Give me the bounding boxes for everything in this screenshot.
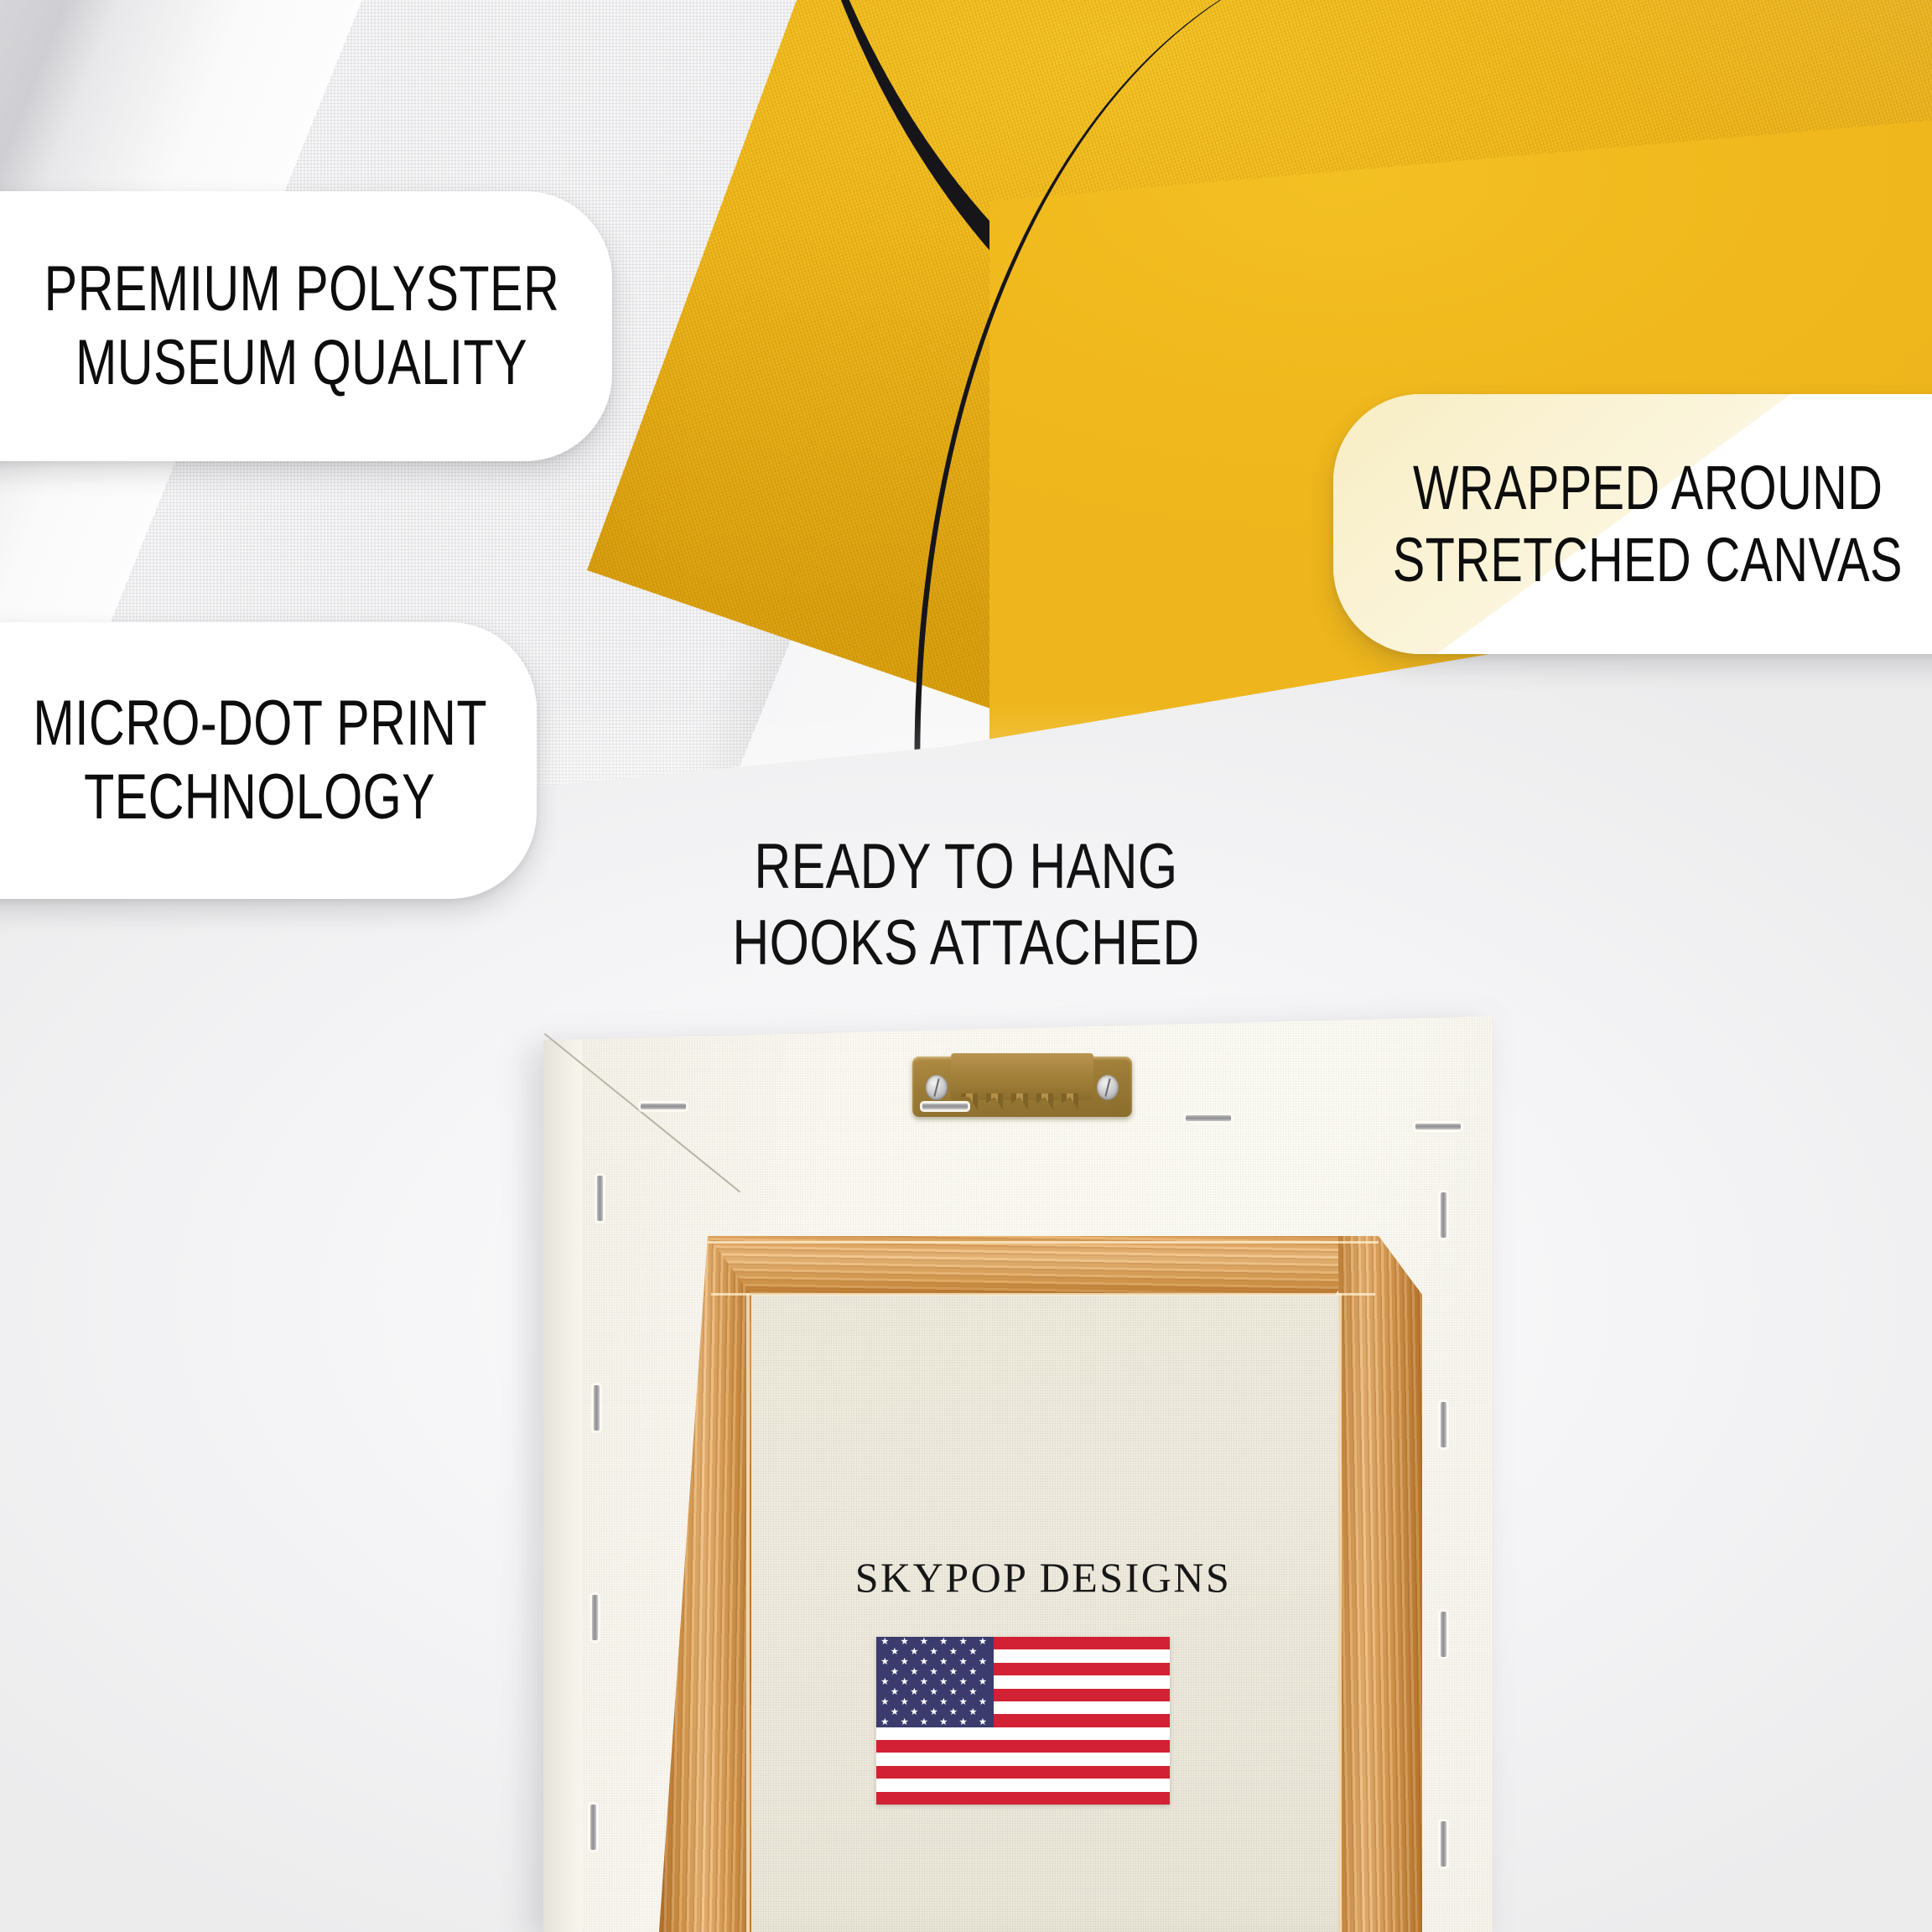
flag-star: ★ [969, 1708, 977, 1717]
flag-star: ★ [920, 1718, 928, 1727]
stretcher-bar-top [708, 1236, 1379, 1295]
flag-star: ★ [920, 1678, 928, 1687]
flag-canton: ★★★★★★★★★★★★★★★★★★★★★★★★★★★★★★★★★★★★★★★★… [876, 1637, 994, 1727]
flag-star: ★ [958, 1658, 967, 1667]
flag-stripe [876, 1753, 1170, 1765]
flag-star: ★ [949, 1648, 958, 1657]
flag-star: ★ [949, 1708, 958, 1717]
staple-right-1 [1441, 1192, 1446, 1238]
staple-left-2 [594, 1385, 600, 1431]
flag-star: ★ [969, 1668, 977, 1677]
flag-stripe [876, 1727, 1170, 1740]
flag-star: ★ [910, 1648, 918, 1657]
flag-stripe [876, 1740, 1170, 1753]
flag-star: ★ [891, 1708, 899, 1717]
staple-top-right [1415, 1124, 1461, 1130]
flag-star: ★ [891, 1648, 899, 1657]
staple-top-mid-right [1186, 1115, 1231, 1121]
flag-star: ★ [880, 1698, 889, 1707]
hanger-screw-right [1097, 1075, 1119, 1100]
flag-star: ★ [910, 1708, 918, 1717]
flag-star: ★ [958, 1718, 967, 1727]
brand-label: SKYPOP DESIGNS [708, 1553, 1379, 1602]
flag-star: ★ [880, 1658, 889, 1667]
flag-star: ★ [891, 1668, 899, 1677]
staple-top-left [641, 1104, 686, 1109]
brand-name-text: SKYPOP DESIGNS [708, 1553, 1379, 1602]
flag-stripe [876, 1792, 1170, 1805]
flag-star: ★ [900, 1678, 908, 1687]
flag-star: ★ [910, 1668, 918, 1677]
flag-star: ★ [939, 1698, 948, 1707]
staple-left-4 [590, 1805, 596, 1850]
flag-star: ★ [891, 1688, 899, 1697]
feature-premium-line2: MUSEUM QUALITY [75, 326, 527, 400]
ready-to-hang-line2: HOOKS ATTACHED [193, 905, 1738, 981]
flag-star: ★ [949, 1688, 958, 1697]
staple-right-4 [1441, 1821, 1446, 1867]
staple-right-3 [1441, 1612, 1446, 1657]
flag-star: ★ [900, 1638, 908, 1647]
feature-wrapped-line1: WRAPPED AROUND [1413, 452, 1883, 524]
flag-star: ★ [958, 1638, 967, 1647]
stretcher-highlight-top [711, 1293, 1375, 1296]
flag-star: ★ [900, 1718, 908, 1727]
flag-star: ★ [929, 1668, 937, 1677]
flag-star: ★ [958, 1678, 967, 1687]
flag-star: ★ [880, 1638, 889, 1647]
flag-star: ★ [920, 1638, 928, 1647]
flag-star: ★ [929, 1688, 937, 1697]
feature-micro-line1: MICRO-DOT PRINT [33, 687, 487, 761]
flag-star: ★ [939, 1638, 948, 1647]
flag-star: ★ [979, 1698, 987, 1707]
staple-right-2 [1441, 1402, 1446, 1447]
united-states-flag-icon: ★★★★★★★★★★★★★★★★★★★★★★★★★★★★★★★★★★★★★★★★… [876, 1637, 1170, 1805]
feature-badge-wrapped-around-stretched-canvas: WRAPPED AROUND STRETCHED CANVAS [1333, 394, 1932, 654]
flag-star: ★ [979, 1678, 987, 1687]
feature-micro-line2: TECHNOLOGY [85, 761, 436, 834]
flag-star: ★ [910, 1688, 918, 1697]
flag-star: ★ [969, 1688, 977, 1697]
feature-heading-ready-to-hang: READY TO HANG HOOKS ATTACHED [0, 828, 1932, 981]
canvas-back-photo: SKYPOP DESIGNS ★★★★★★★★★★★★★★★★★★★★★★★★★… [543, 1016, 1503, 1932]
stretcher-highlight-top-outer [708, 1241, 1379, 1244]
flag-star: ★ [979, 1718, 987, 1727]
ready-to-hang-line1: READY TO HANG [193, 828, 1738, 905]
flag-star: ★ [929, 1708, 937, 1717]
flag-star: ★ [969, 1648, 977, 1657]
flag-stripe [876, 1779, 1170, 1791]
hanger-body [951, 1053, 1093, 1100]
flag-star: ★ [900, 1698, 908, 1707]
flag-star: ★ [958, 1698, 967, 1707]
flag-star: ★ [939, 1658, 948, 1667]
feature-badge-premium-polyster: PREMIUM POLYSTER MUSEUM QUALITY [0, 191, 612, 461]
flag-star: ★ [939, 1678, 948, 1687]
flag-star: ★ [900, 1658, 908, 1667]
staple-left-3 [592, 1595, 598, 1640]
staple-top-mid-left [922, 1104, 968, 1109]
stretcher-highlight-left [746, 1293, 750, 1932]
flag-star: ★ [920, 1658, 928, 1667]
flag-star: ★ [949, 1668, 958, 1677]
flag-star: ★ [929, 1648, 937, 1657]
flag-star: ★ [920, 1698, 928, 1707]
flag-star: ★ [979, 1638, 987, 1647]
flag-star: ★ [880, 1718, 889, 1727]
stretcher-highlight-right [1338, 1293, 1342, 1932]
flag-star: ★ [979, 1658, 987, 1667]
hanger-screw-left [926, 1075, 948, 1100]
feature-premium-line1: PREMIUM POLYSTER [44, 252, 560, 326]
staple-left-1 [597, 1176, 603, 1221]
flag-star: ★ [939, 1718, 948, 1727]
infographic-canvas: PREMIUM POLYSTER MUSEUM QUALITY MICRO-DO… [0, 0, 1932, 1932]
flag-star: ★ [880, 1678, 889, 1687]
flag-stripe [876, 1766, 1170, 1779]
feature-wrapped-line2: STRETCHED CANVAS [1393, 524, 1903, 596]
